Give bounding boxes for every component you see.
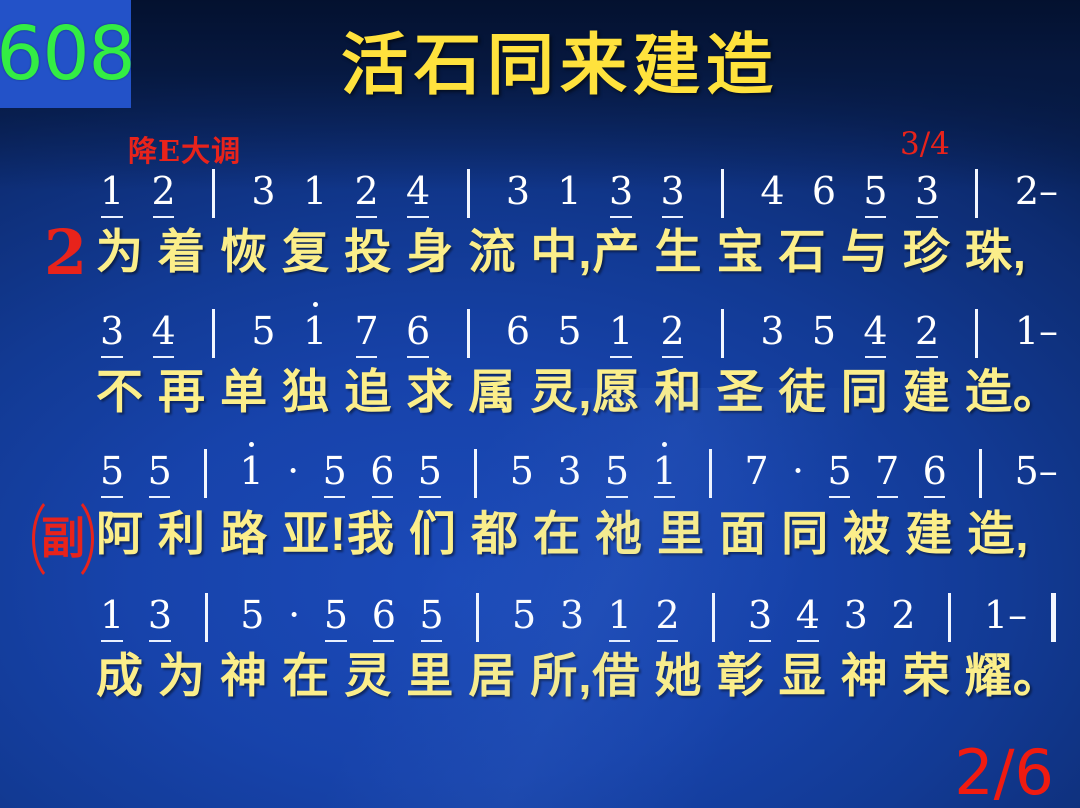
lyric-line-3: 阿 利 路 亚!我 们 都 在 祂 里 面 同 被 建 造,	[96, 510, 1080, 557]
barline	[948, 593, 951, 642]
verse-number-marker: 2	[44, 222, 87, 284]
notation-row: 551·56553517·5765–	[0, 452, 1080, 510]
note-3: 3	[506, 172, 530, 220]
note-2: 2	[152, 172, 176, 220]
final-barline	[1051, 593, 1056, 642]
note-4: 4	[760, 172, 784, 220]
notation-row: 135·565531234321–	[0, 596, 1080, 654]
note-5: 5	[812, 312, 836, 360]
note-5: 5	[100, 452, 124, 500]
note-1: 1	[240, 452, 264, 500]
note-2: 2	[660, 312, 684, 360]
note-5: 5	[324, 596, 348, 644]
page-indicator: 2/6	[954, 742, 1054, 804]
note-3: 3	[748, 596, 772, 644]
barline	[204, 449, 207, 498]
note-6: 6	[506, 312, 530, 360]
music-system-1: 123124313346532–	[0, 172, 1080, 230]
note-5: 5	[148, 452, 172, 500]
note-3: 3	[557, 452, 581, 500]
notation-row: 345176651235421–	[0, 312, 1080, 370]
note-3: 3	[760, 312, 784, 360]
note-3: 3	[100, 312, 124, 360]
note-1: 1	[303, 312, 327, 360]
note-7: 7	[354, 312, 378, 360]
note-5: 5	[418, 452, 442, 500]
barline	[212, 169, 215, 218]
note-1: 1	[100, 172, 124, 220]
barline	[467, 169, 470, 218]
note-1: 1	[100, 596, 124, 644]
note-4: 4	[796, 596, 820, 644]
dot-prolong: ·	[792, 452, 804, 500]
note-5: 5	[240, 596, 264, 644]
note-3: 3	[560, 596, 584, 644]
barline	[721, 309, 724, 358]
barline	[476, 593, 479, 642]
note-6: 6	[372, 596, 396, 644]
page-title: 活石同来建造	[0, 32, 1080, 99]
note-4: 4	[152, 312, 176, 360]
barline	[712, 593, 715, 642]
barline	[709, 449, 712, 498]
note-5: 5	[251, 312, 275, 360]
note-6: 6	[406, 312, 430, 360]
dot-prolong: ·	[287, 452, 299, 500]
note-5: 5	[863, 172, 887, 220]
note-5: 5	[557, 312, 581, 360]
note-1: 1	[652, 452, 676, 500]
note-2: 2	[915, 312, 939, 360]
note-1-hold: 1–	[984, 596, 1027, 644]
notation-row: 123124313346532–	[0, 172, 1080, 230]
music-system-4: 135·565531234321–	[0, 596, 1080, 654]
note-3: 3	[251, 172, 275, 220]
note-5: 5	[420, 596, 444, 644]
music-system-3: 551·56553517·5765–	[0, 452, 1080, 510]
note-2: 2	[655, 596, 679, 644]
hymn-slide: 608 活石同来建造 降E大调 3/4 2 副 123124313346532–…	[0, 0, 1080, 808]
note-5-hold: 5–	[1015, 452, 1058, 500]
note-6: 6	[370, 452, 394, 500]
lyric-line-4: 成 为 神 在 灵 里 居 所,借 她 彰 显 神 荣 耀。	[96, 652, 1080, 699]
barline	[205, 593, 208, 642]
key-signature: 降E大调	[128, 128, 241, 170]
note-2: 2	[891, 596, 915, 644]
note-1: 1	[557, 172, 581, 220]
note-5: 5	[510, 452, 534, 500]
note-3: 3	[915, 172, 939, 220]
note-3: 3	[660, 172, 684, 220]
lyric-line-1: 为 着 恢 复 投 身 流 中,产 生 宝 石 与 珍 珠,	[96, 228, 1080, 275]
note-7: 7	[875, 452, 899, 500]
barline	[467, 309, 470, 358]
note-3: 3	[148, 596, 172, 644]
barline	[975, 309, 978, 358]
note-2: 2	[354, 172, 378, 220]
note-4: 4	[406, 172, 430, 220]
barline	[474, 449, 477, 498]
note-6: 6	[923, 452, 947, 500]
chorus-marker-label: 副	[41, 517, 85, 561]
barline	[721, 169, 724, 218]
note-3: 3	[844, 596, 868, 644]
note-3: 3	[609, 172, 633, 220]
note-4: 4	[863, 312, 887, 360]
note-1: 1	[303, 172, 327, 220]
dot-prolong: ·	[288, 596, 300, 644]
music-system-2: 345176651235421–	[0, 312, 1080, 370]
note-2-hold: 2–	[1015, 172, 1058, 220]
note-7: 7	[744, 452, 768, 500]
note-6: 6	[812, 172, 836, 220]
note-1: 1	[609, 312, 633, 360]
note-5: 5	[605, 452, 629, 500]
lyric-line-2: 不 再 单 独 追 求 属 灵,愿 和 圣 徒 同 建 造。	[96, 368, 1080, 415]
note-1-hold: 1–	[1015, 312, 1058, 360]
time-signature: 3/4	[900, 126, 950, 162]
note-5: 5	[512, 596, 536, 644]
note-5: 5	[828, 452, 852, 500]
barline	[212, 309, 215, 358]
barline	[975, 169, 978, 218]
note-5: 5	[323, 452, 347, 500]
barline	[979, 449, 982, 498]
note-1: 1	[608, 596, 632, 644]
